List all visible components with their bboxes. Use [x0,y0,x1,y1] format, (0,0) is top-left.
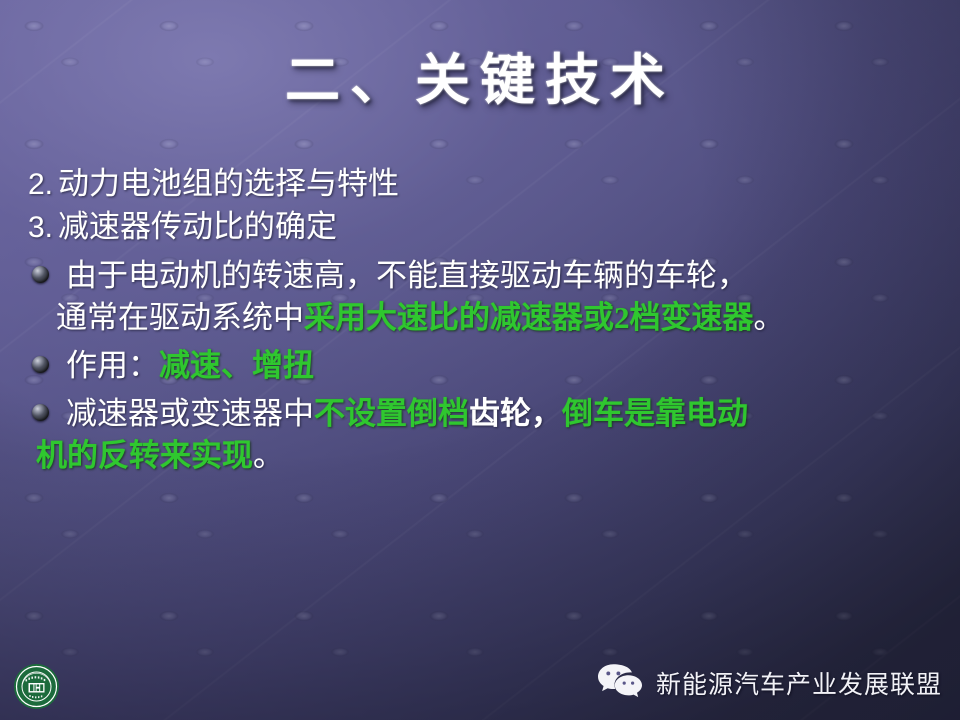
bullet-1-line2-white: 通常在驱动系统中 [56,300,304,335]
wechat-brand-label: 新能源汽车产业发展联盟 [656,665,942,701]
numbered-item-2: 2.动力电池组的选择与特性 [28,163,938,206]
bullet-item-1: 由于电动机的转速高，不能直接驱动车辆的车轮， 通常在驱动系统中采用大速比的减速器… [28,255,938,339]
slide-title: 二、关键技术 [0,52,960,107]
slide-body: 2.动力电池组的选择与特性 3.减速器传动比的确定 由于电动机的转速高，不能直接… [28,163,938,477]
wechat-brand-footer: 新能源汽车产业发展联盟 [596,661,942,704]
bullet-1-line2-highlight: 采用大速比的减速器或2档变速器 [304,300,754,335]
wechat-bubbles-icon [596,661,644,704]
numbered-item-2-marker: 2. [28,168,53,201]
bullet-3-line2-highlight: 机的反转来实现 [36,438,253,473]
bullet-3-line1-highlight-a: 不设置倒档 [314,396,469,431]
numbered-item-3-text: 减速器传动比的确定 [58,209,337,244]
presentation-slide: 二、关键技术 2.动力电池组的选择与特性 3.减速器传动比的确定 由于电动机的转… [0,0,960,720]
bullet-item-1-text: 由于电动机的转速高，不能直接驱动车辆的车轮， 通常在驱动系统中采用大速比的减速器… [66,255,938,339]
bullet-2-highlight: 减速、增扭 [159,348,314,383]
numbered-item-3-marker: 3. [28,211,53,244]
bullet-2-label: 作用： [66,348,159,383]
circular-seal-emblem-icon [13,663,60,710]
sphere-bullet-icon [32,404,49,421]
bullet-3-line2-tail: 。 [253,438,284,473]
bullet-item-2: 作用：减速、增扭 [28,345,938,387]
sphere-bullet-icon [32,356,49,373]
bullet-1-line2-tail: 。 [754,300,785,335]
bullet-item-3: 减速器或变速器中不设置倒档齿轮，倒车是靠电动 机的反转来实现。 [28,393,938,477]
bullet-item-2-text: 作用：减速、增扭 [66,345,938,387]
bullet-3-line1-highlight-b: 倒车是靠电动 [562,396,748,431]
bullet-3-line1-mid: 齿轮， [469,396,562,431]
bullet-1-line1: 由于电动机的转速高，不能直接驱动车辆的车轮， [66,258,748,293]
bullet-item-3-text: 减速器或变速器中不设置倒档齿轮，倒车是靠电动 机的反转来实现。 [66,393,938,477]
bullet-3-line1-white: 减速器或变速器中 [66,396,314,431]
sphere-bullet-icon [32,266,49,283]
numbered-item-3: 3.减速器传动比的确定 [28,206,938,249]
numbered-item-2-text: 动力电池组的选择与特性 [58,166,399,201]
